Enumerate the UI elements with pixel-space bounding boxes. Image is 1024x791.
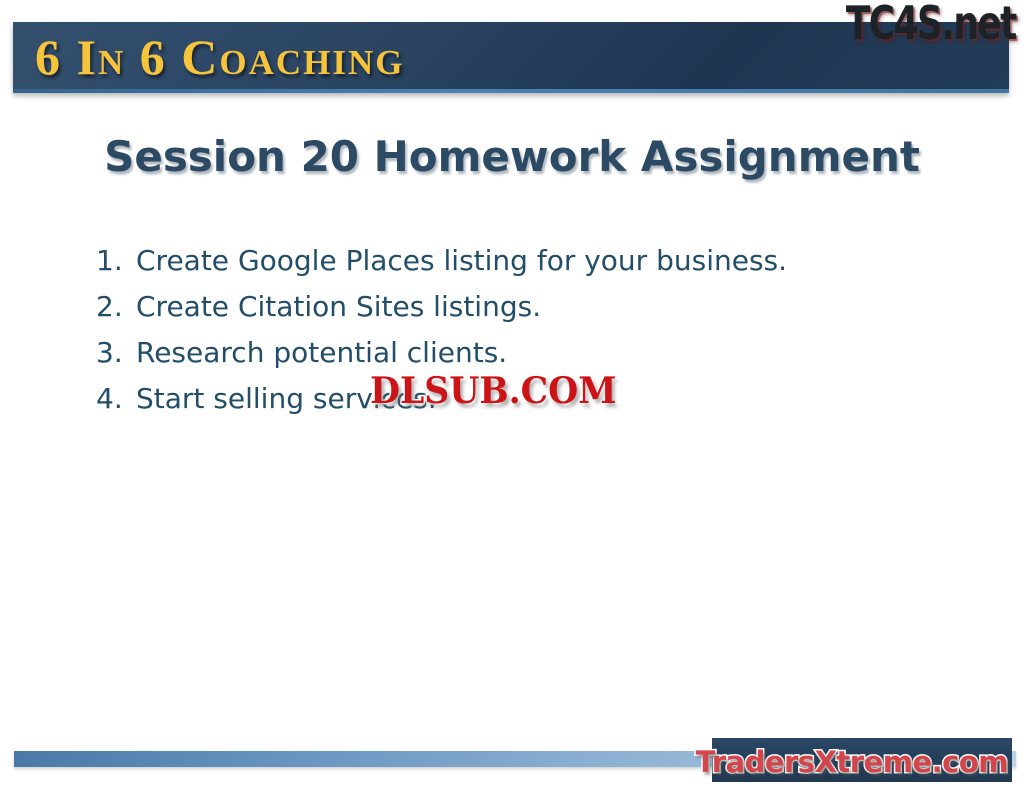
homework-list: 1. Create Google Places listing for your… (96, 238, 896, 422)
page-title: Session 20 Homework Assignment (0, 132, 1024, 181)
footer-plate (712, 738, 1012, 782)
list-item-marker: 3. (96, 330, 136, 376)
list-item-marker: 4. (96, 376, 136, 422)
list-item-marker: 2. (96, 284, 136, 330)
presentation-slide: 6 In 6 Coaching TC4S.net Session 20 Home… (0, 0, 1024, 791)
list-item-label: Research potential clients. (136, 330, 507, 376)
list-item: 2. Create Citation Sites listings. (96, 284, 896, 330)
header-banner: 6 In 6 Coaching (13, 22, 1009, 93)
list-item: 3. Research potential clients. (96, 330, 896, 376)
list-item-label: Start selling services. (136, 376, 437, 422)
list-item-label: Create Google Places listing for your bu… (136, 238, 787, 284)
list-item: 1. Create Google Places listing for your… (96, 238, 896, 284)
list-item-marker: 1. (96, 238, 136, 284)
list-item: 4. Start selling services. (96, 376, 896, 422)
list-item-label: Create Citation Sites listings. (136, 284, 541, 330)
brand-title: 6 In 6 Coaching (35, 27, 404, 85)
